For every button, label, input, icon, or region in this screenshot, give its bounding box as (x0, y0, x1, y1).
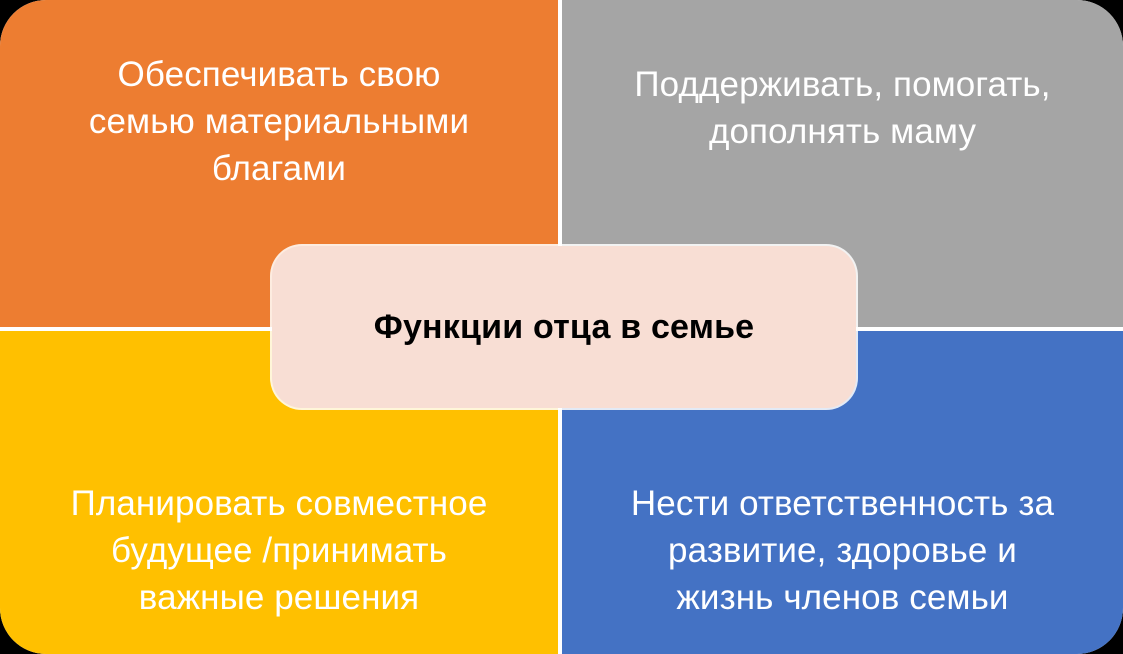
quadrant-top-left-text: Обеспечивать свою семью материальными бл… (0, 51, 558, 192)
quadrant-top-right-text: Поддерживать, помогать, дополнять маму (562, 61, 1123, 155)
quadrant-bottom-left-text: Планировать совместное будущее /принимат… (0, 480, 558, 621)
diagram-canvas: Обеспечивать свою семью материальными бл… (0, 0, 1123, 654)
quadrant-bottom-right-text: Нести ответственность за развитие, здоро… (562, 480, 1123, 621)
center-title-text: Функции отца в семье (374, 307, 755, 347)
center-label-box[interactable]: Функции отца в семье (272, 246, 856, 408)
